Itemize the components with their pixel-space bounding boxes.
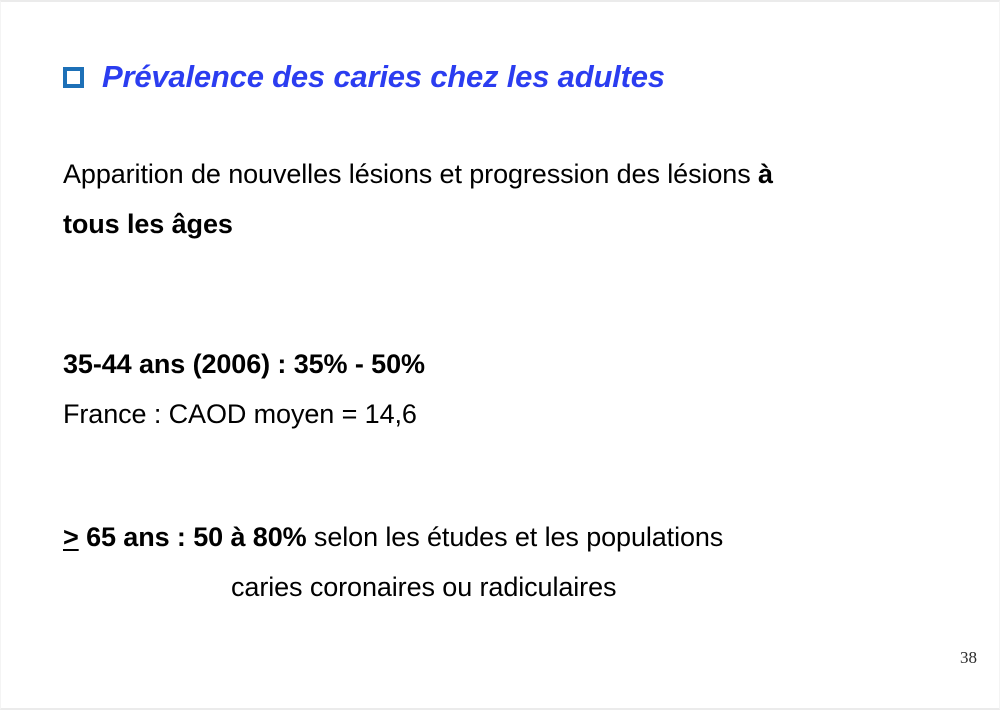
square-bullet-icon [63, 67, 84, 88]
text-segment-regular: Apparition de nouvelles lésions et progr… [63, 159, 758, 189]
text-line: Apparition de nouvelles lésions et progr… [63, 149, 943, 199]
page-title: Prévalence des caries chez les adultes [102, 58, 665, 95]
text-block-adults-35-44: 35-44 ans (2006) : 35% - 50% France : CA… [63, 339, 943, 439]
page-number: 38 [960, 648, 977, 668]
text-segment-regular: France : CAOD moyen = 14,6 [63, 399, 417, 429]
text-segment-bold: 65 ans : 50 à 80% [79, 522, 307, 552]
text-segment-bold: tous les âges [63, 209, 233, 239]
slide-canvas: Prévalence des caries chez les adultes A… [0, 0, 1000, 710]
text-segment-bold: à [758, 159, 773, 189]
slide-title-row: Prévalence des caries chez les adultes [63, 58, 665, 95]
greater-or-equal-sign: > [63, 522, 79, 552]
text-segment-bold: 35-44 ans (2006) : 35% - 50% [63, 349, 425, 379]
text-segment-regular: selon les études et les populations [307, 522, 724, 552]
text-line-indented: caries coronaires ou radiculaires [63, 562, 943, 612]
text-line: tous les âges [63, 199, 943, 249]
text-line: France : CAOD moyen = 14,6 [63, 389, 943, 439]
text-line: 35-44 ans (2006) : 35% - 50% [63, 339, 943, 389]
text-segment-regular: caries coronaires ou radiculaires [231, 572, 616, 602]
text-line: > 65 ans : 50 à 80% selon les études et … [63, 512, 943, 562]
text-block-adults-65-plus: > 65 ans : 50 à 80% selon les études et … [63, 512, 943, 612]
text-block-lesions: Apparition de nouvelles lésions et progr… [63, 149, 943, 249]
